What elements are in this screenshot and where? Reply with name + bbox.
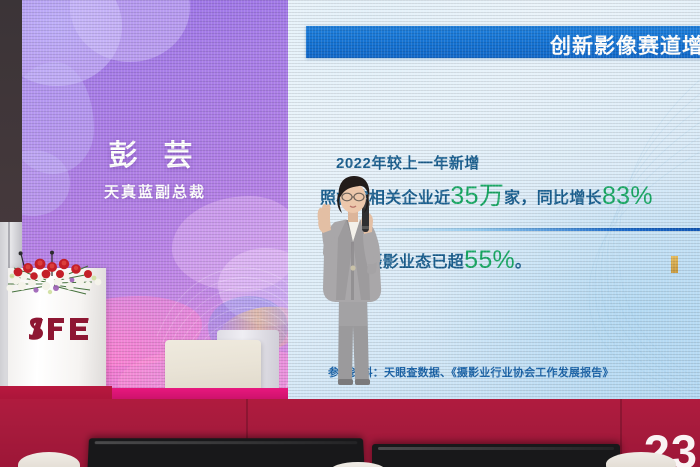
- monitor-bezel-highlight: [95, 441, 358, 444]
- speaker-person: [305, 176, 397, 388]
- monitor-bezel-highlight: [378, 447, 614, 450]
- conference-stage-photo: 彭 芸 天真蓝副总裁 创新影像赛道增 2022年较上一年新增: [0, 0, 700, 467]
- speaker-title: 天真蓝副总裁: [22, 181, 288, 202]
- slide-title-bar: 创新影像赛道增: [306, 26, 700, 58]
- line3-suffix: 。: [515, 254, 531, 271]
- slide-divider: [354, 228, 700, 231]
- decorative-gold-mark: [671, 256, 678, 273]
- foreground-monitor: [87, 438, 365, 467]
- stat-55pct: 55%: [464, 246, 515, 274]
- slide-title: 创新影像赛道增: [550, 30, 700, 60]
- foreground-monitor: [372, 444, 620, 467]
- sfe-logo: [28, 316, 94, 342]
- stat-35wan: 35万: [450, 182, 504, 210]
- line2-mid: 家，同比增长: [504, 190, 602, 207]
- stat-83pct: 83%: [602, 182, 653, 210]
- podium-flower-arrangement: [2, 250, 114, 296]
- slide-wave-texture: [410, 40, 700, 400]
- slide-body-line1: 2022年较上一年新增: [336, 152, 480, 173]
- speaker-name: 彭 芸: [22, 132, 288, 174]
